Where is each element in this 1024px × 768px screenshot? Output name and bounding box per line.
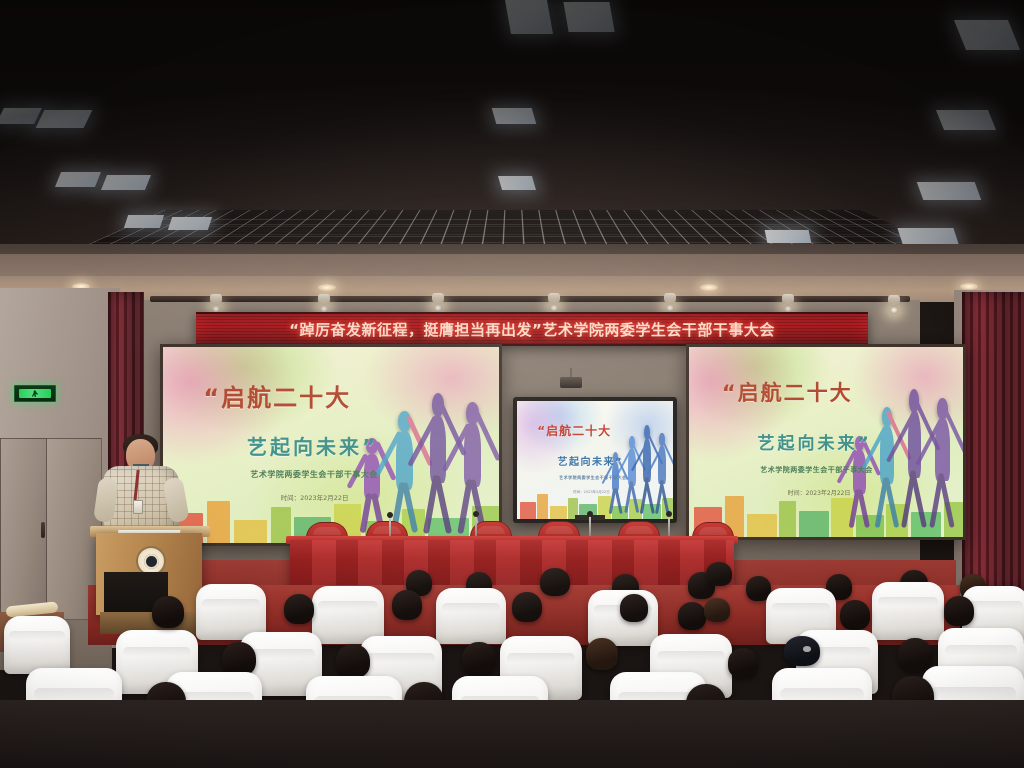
left-projection-screen: “启航二十大 艺起向未来” 艺术学院两委学生会干部干事大会 时间：2023年2月… xyxy=(160,344,502,546)
slide-title-center: “启航二十大 xyxy=(537,422,611,439)
stage-curtain-right xyxy=(962,292,1024,592)
spotlight xyxy=(210,294,222,305)
spotlight xyxy=(888,295,900,306)
slide-content-right: “启航二十大 艺起向未来” 艺术学院两委学生会干部干事大会 时间：2023年2月… xyxy=(689,347,963,537)
audience-head xyxy=(840,600,870,630)
soffit-shadow xyxy=(0,244,1024,254)
slide-subtitle-right: 艺起向未来” xyxy=(758,429,872,454)
skyline-building xyxy=(799,511,829,537)
door-handle-icon xyxy=(41,522,45,538)
led-banner: “踔厉奋发新征程，挺膺担当再出发”艺术学院两委学生会干部干事大会 xyxy=(196,312,868,346)
ceiling-camera-icon xyxy=(560,377,582,388)
audience-head xyxy=(706,562,732,586)
soffit-downlight xyxy=(960,283,978,290)
spotlight xyxy=(318,294,330,305)
center-tv-display: “启航二十大 艺起向未来” 艺术学院两委学生会干部干事大会 时间：2023年2月… xyxy=(513,397,677,523)
foreground-shadow xyxy=(0,700,1024,768)
audience-head xyxy=(284,594,314,624)
figure-silhouette xyxy=(899,386,930,525)
audience-head xyxy=(620,594,648,622)
soffit-downlight xyxy=(700,284,718,291)
slide-content-left: “启航二十大 艺起向未来” 艺术学院两委学生会干部干事大会 时间：2023年2月… xyxy=(163,347,499,543)
audience-seat xyxy=(4,616,70,674)
skyline-building xyxy=(779,501,795,537)
figure-silhouette xyxy=(654,431,671,512)
slide-title-left: “启航二十大 xyxy=(203,378,351,413)
skyline-building xyxy=(234,520,268,543)
slide-subtitle-center: 艺起向未来” xyxy=(558,453,624,468)
speaker-id-badge xyxy=(133,500,143,514)
audience-head xyxy=(512,592,542,622)
audience-head xyxy=(678,602,706,630)
exit-sign xyxy=(14,385,56,402)
running-man-icon xyxy=(32,390,38,397)
audience-head xyxy=(336,644,370,678)
audience-head xyxy=(152,596,184,628)
slide-date-right: 时间：2023年2月22日 xyxy=(788,488,851,497)
skyline-building xyxy=(537,494,548,519)
slide-date-left: 时间：2023年2月22日 xyxy=(281,492,349,502)
skyline-building xyxy=(207,501,231,543)
spotlight xyxy=(782,294,794,305)
slide-title-right: “启航二十大 xyxy=(722,377,853,407)
audience-head xyxy=(586,638,618,670)
right-projection-screen: “启航二十大 艺起向未来” 艺术学院两委学生会干部干事大会 时间：2023年2月… xyxy=(686,344,966,540)
slide-date-center: 时间：2023年2月22日 xyxy=(573,490,610,495)
audience-head xyxy=(392,590,422,620)
soffit-downlight xyxy=(318,284,336,291)
audience-head xyxy=(540,568,570,596)
stage-light-rail xyxy=(150,296,910,302)
audience-head xyxy=(944,596,974,626)
skyline-building xyxy=(747,514,777,537)
slide-org-left: 艺术学院两委学生会干部干事大会 xyxy=(250,469,378,480)
skyline-building xyxy=(550,506,567,519)
audience-head xyxy=(898,638,932,672)
slide-org-center: 艺术学院两委学生会干部干事大会 xyxy=(559,475,627,481)
figure-silhouette xyxy=(926,395,958,525)
photo-canvas: “踔厉奋发新征程，挺膺担当再出发”艺术学院两委学生会干部干事大会 xyxy=(0,0,1024,768)
spotlight xyxy=(548,293,560,304)
slide-org-right: 艺术学院两委学生会干部干事大会 xyxy=(760,465,873,475)
slide-content-center: “启航二十大 艺起向未来” 艺术学院两委学生会干部干事大会 时间：2023年2月… xyxy=(517,401,673,519)
audience-seat xyxy=(872,582,944,640)
audience-head xyxy=(728,648,758,678)
audience-head-with-cap xyxy=(784,636,820,666)
skyline-building xyxy=(520,502,536,519)
spotlight xyxy=(664,293,676,304)
exit-sign-face xyxy=(19,389,51,398)
audience-head xyxy=(222,642,256,676)
audience-head xyxy=(462,642,496,676)
audience-seat xyxy=(436,588,506,644)
slide-subtitle-left: 艺起向未来” xyxy=(247,431,378,460)
spotlight xyxy=(432,293,444,304)
audience-head xyxy=(704,598,730,622)
banner-text: “踔厉奋发新征程，挺膺担当再出发”艺术学院两委学生会干部干事大会 xyxy=(289,319,775,340)
